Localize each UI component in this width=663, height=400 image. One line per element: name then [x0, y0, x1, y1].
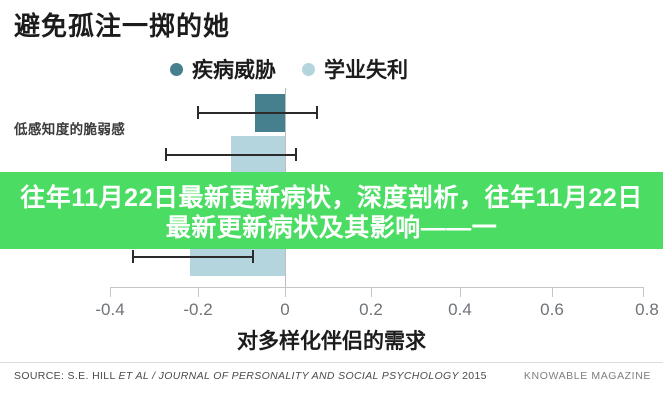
x-axis-tick — [198, 287, 199, 297]
x-axis-title: 对多样化伴侣的需求 — [0, 325, 663, 355]
x-axis-tick-label: 0.8 — [635, 300, 659, 320]
chart-figure: 避免孤注一掷的她 疾病威胁 学业失利 — [0, 0, 663, 400]
x-axis-tick-label: -0.4 — [95, 300, 124, 320]
x-axis-tick — [110, 287, 111, 297]
x-axis-tick — [285, 287, 286, 297]
x-axis-tick-label: 0.4 — [448, 300, 472, 320]
x-axis-tick — [552, 287, 553, 297]
legend-item-academic-failure: 学业失利 — [302, 54, 408, 84]
chart-title: 避免孤注一掷的她 — [14, 6, 230, 43]
errorbar-group1-series1 — [197, 112, 317, 114]
errorbar-cap-right — [316, 106, 318, 119]
errorbar-cap-left — [197, 106, 199, 119]
x-axis-tick-label: -0.2 — [183, 300, 212, 320]
legend-swatch-dot — [302, 63, 315, 76]
x-axis-tick-label: 0 — [280, 300, 289, 320]
source-prefix: SOURCE: S.E. HILL — [14, 370, 119, 382]
x-axis-tick-label: 0.6 — [540, 300, 564, 320]
brand-credit: KNOWABLE MAGAZINE — [524, 370, 651, 382]
source-credit: SOURCE: S.E. HILL ET AL / JOURNAL OF PER… — [14, 370, 487, 382]
legend-label: 疾病威胁 — [192, 54, 276, 84]
chart-legend: 疾病威胁 学业失利 — [170, 54, 408, 84]
x-axis-line — [110, 287, 643, 288]
errorbar-cap-right — [295, 148, 297, 161]
legend-swatch-dot — [170, 63, 183, 76]
footer-divider — [0, 362, 663, 363]
source-year: 2015 — [459, 370, 487, 382]
x-axis-tick — [460, 287, 461, 297]
x-axis-tick — [371, 287, 372, 297]
overlay-banner-text: 往年11月22日最新更新病状，深度剖析，往年11月22日最新更新病状及其影响——… — [0, 168, 663, 258]
errorbar-cap-left — [165, 148, 167, 161]
errorbar-group1-series2 — [165, 154, 296, 156]
legend-label: 学业失利 — [324, 54, 408, 84]
source-citation-italic: ET AL / JOURNAL OF PERSONALITY AND SOCIA… — [119, 370, 459, 382]
y-category-label-low-vulnerability: 低感知度的脆弱感 — [14, 118, 125, 138]
x-axis-tick — [643, 287, 644, 297]
x-axis-tick-label: 0.2 — [359, 300, 383, 320]
legend-item-disease-threat: 疾病威胁 — [170, 54, 276, 84]
